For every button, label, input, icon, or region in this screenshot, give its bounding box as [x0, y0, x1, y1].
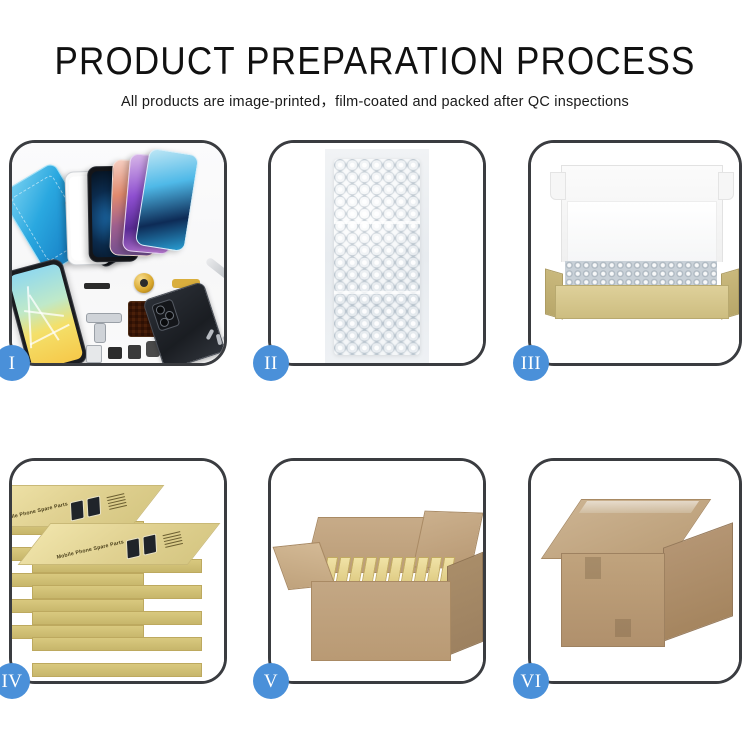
scene-open-carton: [271, 461, 483, 681]
panel-step-5: V: [268, 458, 486, 684]
bubble-pattern-layer-offset: [334, 159, 420, 355]
panel-step-3: III: [528, 140, 742, 366]
phone-screen-fan-group: [78, 151, 224, 269]
camera-module-icon: [151, 298, 181, 331]
mailer-front-panel: [555, 285, 729, 319]
step-badge-5: V: [253, 663, 289, 699]
scene-stacked-boxes: Mobile Phone Spare Parts: [12, 461, 224, 681]
panel-step-4: Mobile Phone Spare Parts: [9, 458, 227, 684]
step-badge-3: III: [513, 345, 549, 381]
panel-step-6: VI: [528, 458, 742, 684]
panel-5-image: [271, 461, 483, 681]
step-badge-4: IV: [0, 663, 30, 699]
panel-grid: I II: [0, 0, 750, 750]
flex-cable-d-icon: [94, 323, 106, 343]
panel-step-1: I: [9, 140, 227, 366]
screws-icon: [208, 329, 224, 351]
panel-6-image: [531, 461, 739, 681]
step-badge-1: I: [0, 345, 30, 381]
wrap-seam-1: [334, 221, 420, 224]
bubble-wrap-inside-box: [565, 261, 717, 287]
panel-4-image: Mobile Phone Spare Parts: [12, 461, 224, 681]
scene-open-mailer-box: [531, 143, 739, 363]
flex-cable-c-icon: [86, 313, 122, 323]
step-badge-2: II: [253, 345, 289, 381]
carton-front-face: [311, 581, 451, 661]
kraft-box-stack: Mobile Phone Spare Parts: [12, 475, 224, 675]
small-part-1-icon: [86, 345, 102, 363]
small-part-3-icon: [128, 345, 141, 359]
sealed-carton-front-face: [561, 553, 665, 647]
carton-right-face: [447, 552, 483, 657]
panel-2-image: [271, 143, 483, 363]
speaker-bar-icon: [84, 283, 110, 289]
scene-sealed-carton: [531, 461, 739, 681]
product-preparation-infographic: PRODUCT PREPARATION PROCESS All products…: [0, 0, 750, 750]
bubble-wrapped-product-icon: [334, 159, 420, 355]
vibration-motor-icon: [134, 273, 154, 293]
wrap-seam-2: [334, 291, 420, 294]
panel-1-image: [12, 143, 224, 363]
step-badge-6: VI: [513, 663, 549, 699]
small-part-2-icon: [108, 347, 122, 359]
panel-3-image: [531, 143, 739, 363]
scene-bubble-wrap: [271, 143, 483, 363]
carton-flap-tab-bottom: [615, 619, 631, 637]
panel-step-2: II: [268, 140, 486, 366]
foam-sheet-icon: [567, 201, 717, 269]
carton-flap-tab-top: [585, 557, 601, 579]
scene-product-parts: [12, 143, 224, 363]
packing-tape-icon: [579, 501, 699, 513]
